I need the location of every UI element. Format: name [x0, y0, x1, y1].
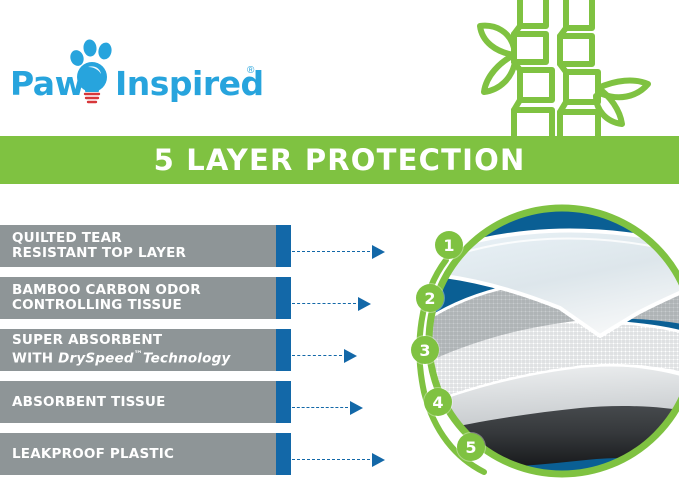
connector-line-4 [292, 407, 348, 408]
connector-arrowhead-3 [344, 349, 357, 363]
layer-bar-accent-1 [276, 225, 291, 267]
layer-label-2-line1: BAMBOO CARBON ODOR [12, 282, 201, 298]
layer-bar-accent-5 [276, 433, 291, 475]
layer-label-3-prefix: WITH [12, 351, 58, 367]
infographic-root: Paw Inspired ® [0, 0, 679, 487]
layer-label-1-line1: QUILTED TEAR [12, 230, 122, 246]
layer-label-3-suffix: Technology [143, 351, 231, 367]
layer-label-1: QUILTED TEAR RESISTANT TOP LAYER [0, 231, 265, 261]
five-layer-pad-cutaway: 1 2 3 4 5 [410, 196, 679, 487]
connector-line-1 [292, 251, 370, 252]
connector-arrow-2 [292, 297, 376, 311]
layer-label-4: ABSORBENT TISSUE [0, 395, 265, 410]
brand-name-part2: Inspired [115, 64, 264, 103]
layer-label-1-line2: RESISTANT TOP LAYER [12, 245, 186, 261]
layer-label-2-line2: CONTROLLING TISSUE [12, 297, 182, 313]
connector-arrowhead-1 [372, 245, 385, 259]
layer-bar-accent-3 [276, 329, 291, 371]
connector-arrow-4 [292, 401, 368, 415]
layer-label-5: LEAKPROOF PLASTIC [0, 447, 265, 462]
connector-arrowhead-5 [372, 453, 385, 467]
layer-bar-2[interactable]: BAMBOO CARBON ODOR CONTROLLING TISSUE [0, 277, 291, 319]
layer-badge-1[interactable]: 1 [435, 231, 463, 259]
connector-arrow-5 [292, 453, 390, 467]
layer-bar-accent-2 [276, 277, 291, 319]
layer-label-3: SUPER ABSORBENT WITH DrySpeed™Technology [0, 333, 265, 367]
layer-bar-accent-4 [276, 381, 291, 423]
section-banner: 5 LAYER PROTECTION [0, 136, 679, 184]
layer-label-3-tm-icon: ™ [134, 350, 143, 360]
connector-arrow-1 [292, 245, 390, 259]
layer-label-4-line1: ABSORBENT TISSUE [12, 394, 166, 410]
connector-arrowhead-4 [350, 401, 363, 415]
layer-label-2: BAMBOO CARBON ODOR CONTROLLING TISSUE [0, 283, 265, 313]
banner-title: 5 LAYER PROTECTION [154, 143, 526, 177]
brand-logo: Paw Inspired ® [8, 20, 268, 110]
registered-trademark-icon: ® [247, 65, 254, 76]
layer-badge-3[interactable]: 3 [411, 336, 439, 364]
connector-line-2 [292, 303, 356, 304]
bamboo-stalks-icon [470, 0, 670, 140]
layer-label-5-line1: LEAKPROOF PLASTIC [12, 446, 174, 462]
layer-badge-4[interactable]: 4 [424, 388, 452, 416]
connector-arrowhead-2 [358, 297, 371, 311]
connector-line-5 [292, 459, 370, 460]
layer-badge-2[interactable]: 2 [416, 284, 444, 312]
layer-bar-5[interactable]: LEAKPROOF PLASTIC [0, 433, 291, 475]
layer-bar-3[interactable]: SUPER ABSORBENT WITH DrySpeed™Technology [0, 329, 291, 371]
connector-line-3 [292, 355, 342, 356]
connector-arrow-3 [292, 349, 362, 363]
layer-bar-1[interactable]: QUILTED TEAR RESISTANT TOP LAYER [0, 225, 291, 267]
layer-label-3-brand: DrySpeed [58, 351, 134, 367]
layer-label-list: QUILTED TEAR RESISTANT TOP LAYER BAMBOO … [0, 225, 300, 475]
layer-label-3-line1: SUPER ABSORBENT [12, 332, 162, 348]
layer-bar-4[interactable]: ABSORBENT TISSUE [0, 381, 291, 423]
layer-badge-5[interactable]: 5 [457, 433, 485, 461]
